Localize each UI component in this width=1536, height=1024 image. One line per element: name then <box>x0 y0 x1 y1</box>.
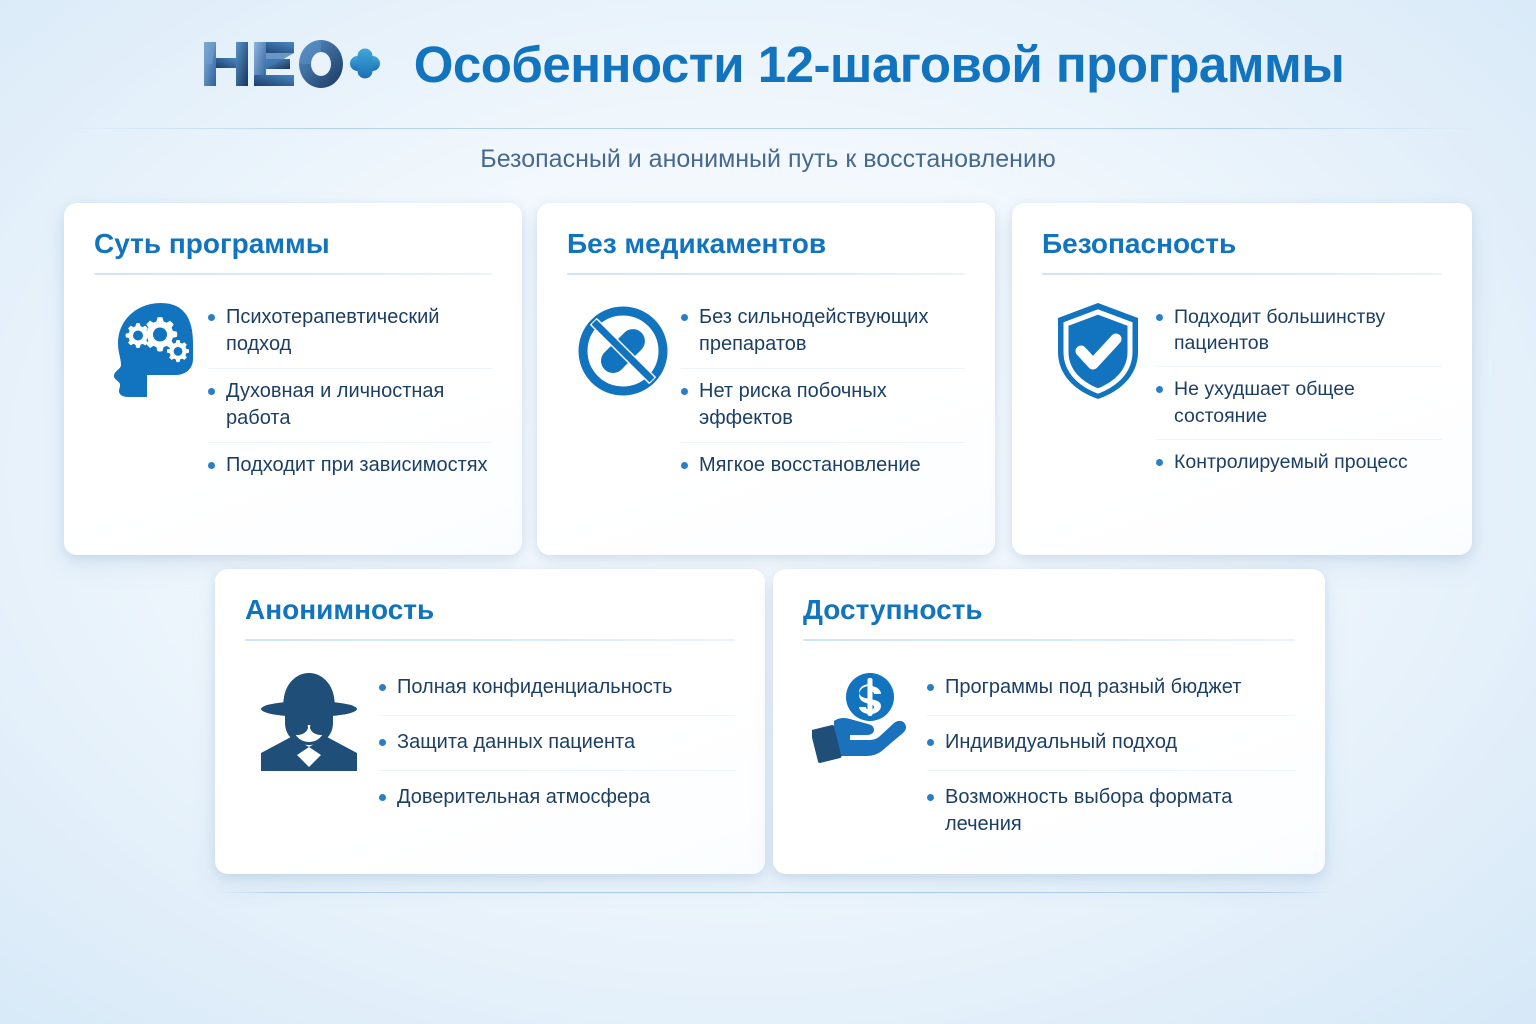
page-header: Особенности 12-шаговой программы <box>0 0 1536 128</box>
header-divider <box>62 128 1482 129</box>
list-item: Подходит при зависимостях <box>208 443 492 489</box>
bullet-dot-icon <box>208 388 215 395</box>
bullet-dot-icon <box>208 462 215 469</box>
head-with-gears-icon <box>94 295 204 401</box>
bullet-text: Полная конфиденциальность <box>397 674 672 701</box>
footer-divider <box>216 892 1331 893</box>
bullet-text: Не ухудшает общее состояние <box>1174 376 1442 429</box>
feature-card-anonymity: Анонимность <box>215 569 765 874</box>
bullet-dot-icon <box>927 794 934 801</box>
list-item: Индивидуальный подход <box>927 716 1295 771</box>
bullet-dot-icon <box>379 794 386 801</box>
no-pills-icon <box>567 295 679 399</box>
card-title: Доступность <box>803 595 1295 626</box>
bullet-text: Подходит при зависимостях <box>226 452 488 479</box>
bullet-dot-icon <box>927 739 934 746</box>
list-item: Доверительная атмосфера <box>379 771 735 825</box>
bullet-text: Индивидуальный подход <box>945 729 1177 756</box>
list-item: Программы под разный бюджет <box>927 661 1295 716</box>
card-title-divider <box>94 273 492 275</box>
feature-card-safety: Безопасность Подходит большинству пациен… <box>1012 203 1472 555</box>
card-title-divider <box>803 639 1295 641</box>
bullet-text: Контролируемый процесс <box>1174 449 1408 475</box>
bullet-text: Нет риска побочных эффектов <box>699 378 965 432</box>
card-bullet-list: Программы под разный бюджет Индивидуальн… <box>927 661 1295 852</box>
card-bullet-list: Подходит большинству пациентов Не ухудша… <box>1156 295 1442 486</box>
card-title: Безопасность <box>1042 229 1442 260</box>
card-bullet-list: Полная конфиденциальность Защита данных … <box>379 661 735 825</box>
bullet-text: Мягкое восстановление <box>699 452 921 479</box>
card-title-divider <box>567 273 965 275</box>
list-item: Духовная и личностная работа <box>208 369 492 443</box>
bullet-dot-icon <box>681 314 688 321</box>
list-item: Не ухудшает общее состояние <box>1156 367 1442 440</box>
list-item: Подходит большинству пациентов <box>1156 295 1442 368</box>
bullet-text: Защита данных пациента <box>397 729 635 756</box>
card-title: Суть программы <box>94 229 492 260</box>
bullet-text: Подходит большинству пациентов <box>1174 304 1442 357</box>
list-item: Без сильнодействующих препаратов <box>681 295 965 369</box>
list-item: Защита данных пациента <box>379 716 735 771</box>
list-item: Полная конфиденциальность <box>379 661 735 716</box>
bullet-text: Без сильнодействующих препаратов <box>699 304 965 358</box>
bullet-text: Духовная и личностная работа <box>226 378 492 432</box>
bullet-dot-icon <box>379 739 386 746</box>
list-item: Контролируемый процесс <box>1156 440 1442 485</box>
bullet-text: Доверительная атмосфера <box>397 784 650 811</box>
page-subtitle: Безопасный и анонимный путь к восстановл… <box>0 145 1536 174</box>
incognito-person-icon <box>245 661 373 771</box>
card-title-divider <box>245 639 735 641</box>
feature-card-no-medication: Без медикаментов Без сильнодействующих п… <box>537 203 995 555</box>
hand-holding-coin-icon <box>803 661 921 763</box>
bullet-text: Возможность выбора формата лечения <box>945 784 1295 838</box>
bullet-dot-icon <box>1156 459 1163 466</box>
feature-card-program-essence: Суть программы Психотерапевтический подх… <box>64 203 522 555</box>
bullet-text: Программы под разный бюджет <box>945 674 1241 701</box>
shield-check-icon <box>1042 295 1154 401</box>
card-title: Без медикаментов <box>567 229 965 260</box>
bullet-dot-icon <box>1156 314 1163 321</box>
bullet-dot-icon <box>208 314 215 321</box>
neo-plus-logo <box>202 36 380 92</box>
bullet-dot-icon <box>927 684 934 691</box>
list-item: Психотерапевтический подход <box>208 295 492 369</box>
bullet-dot-icon <box>681 388 688 395</box>
bullet-dot-icon <box>379 684 386 691</box>
page-title: Особенности 12-шаговой программы <box>414 39 1345 90</box>
bullet-dot-icon <box>681 462 688 469</box>
feature-card-affordability: Доступность Программы под разный бюджет <box>773 569 1325 874</box>
list-item: Возможность выбора формата лечения <box>927 771 1295 852</box>
bullet-text: Психотерапевтический подход <box>226 304 492 358</box>
bullet-dot-icon <box>1156 386 1163 393</box>
card-bullet-list: Без сильнодействующих препаратов Нет рис… <box>681 295 965 489</box>
list-item: Мягкое восстановление <box>681 443 965 489</box>
list-item: Нет риска побочных эффектов <box>681 369 965 443</box>
card-title-divider <box>1042 273 1442 275</box>
card-title: Анонимность <box>245 595 735 626</box>
card-bullet-list: Психотерапевтический подход Духовная и л… <box>208 295 492 489</box>
